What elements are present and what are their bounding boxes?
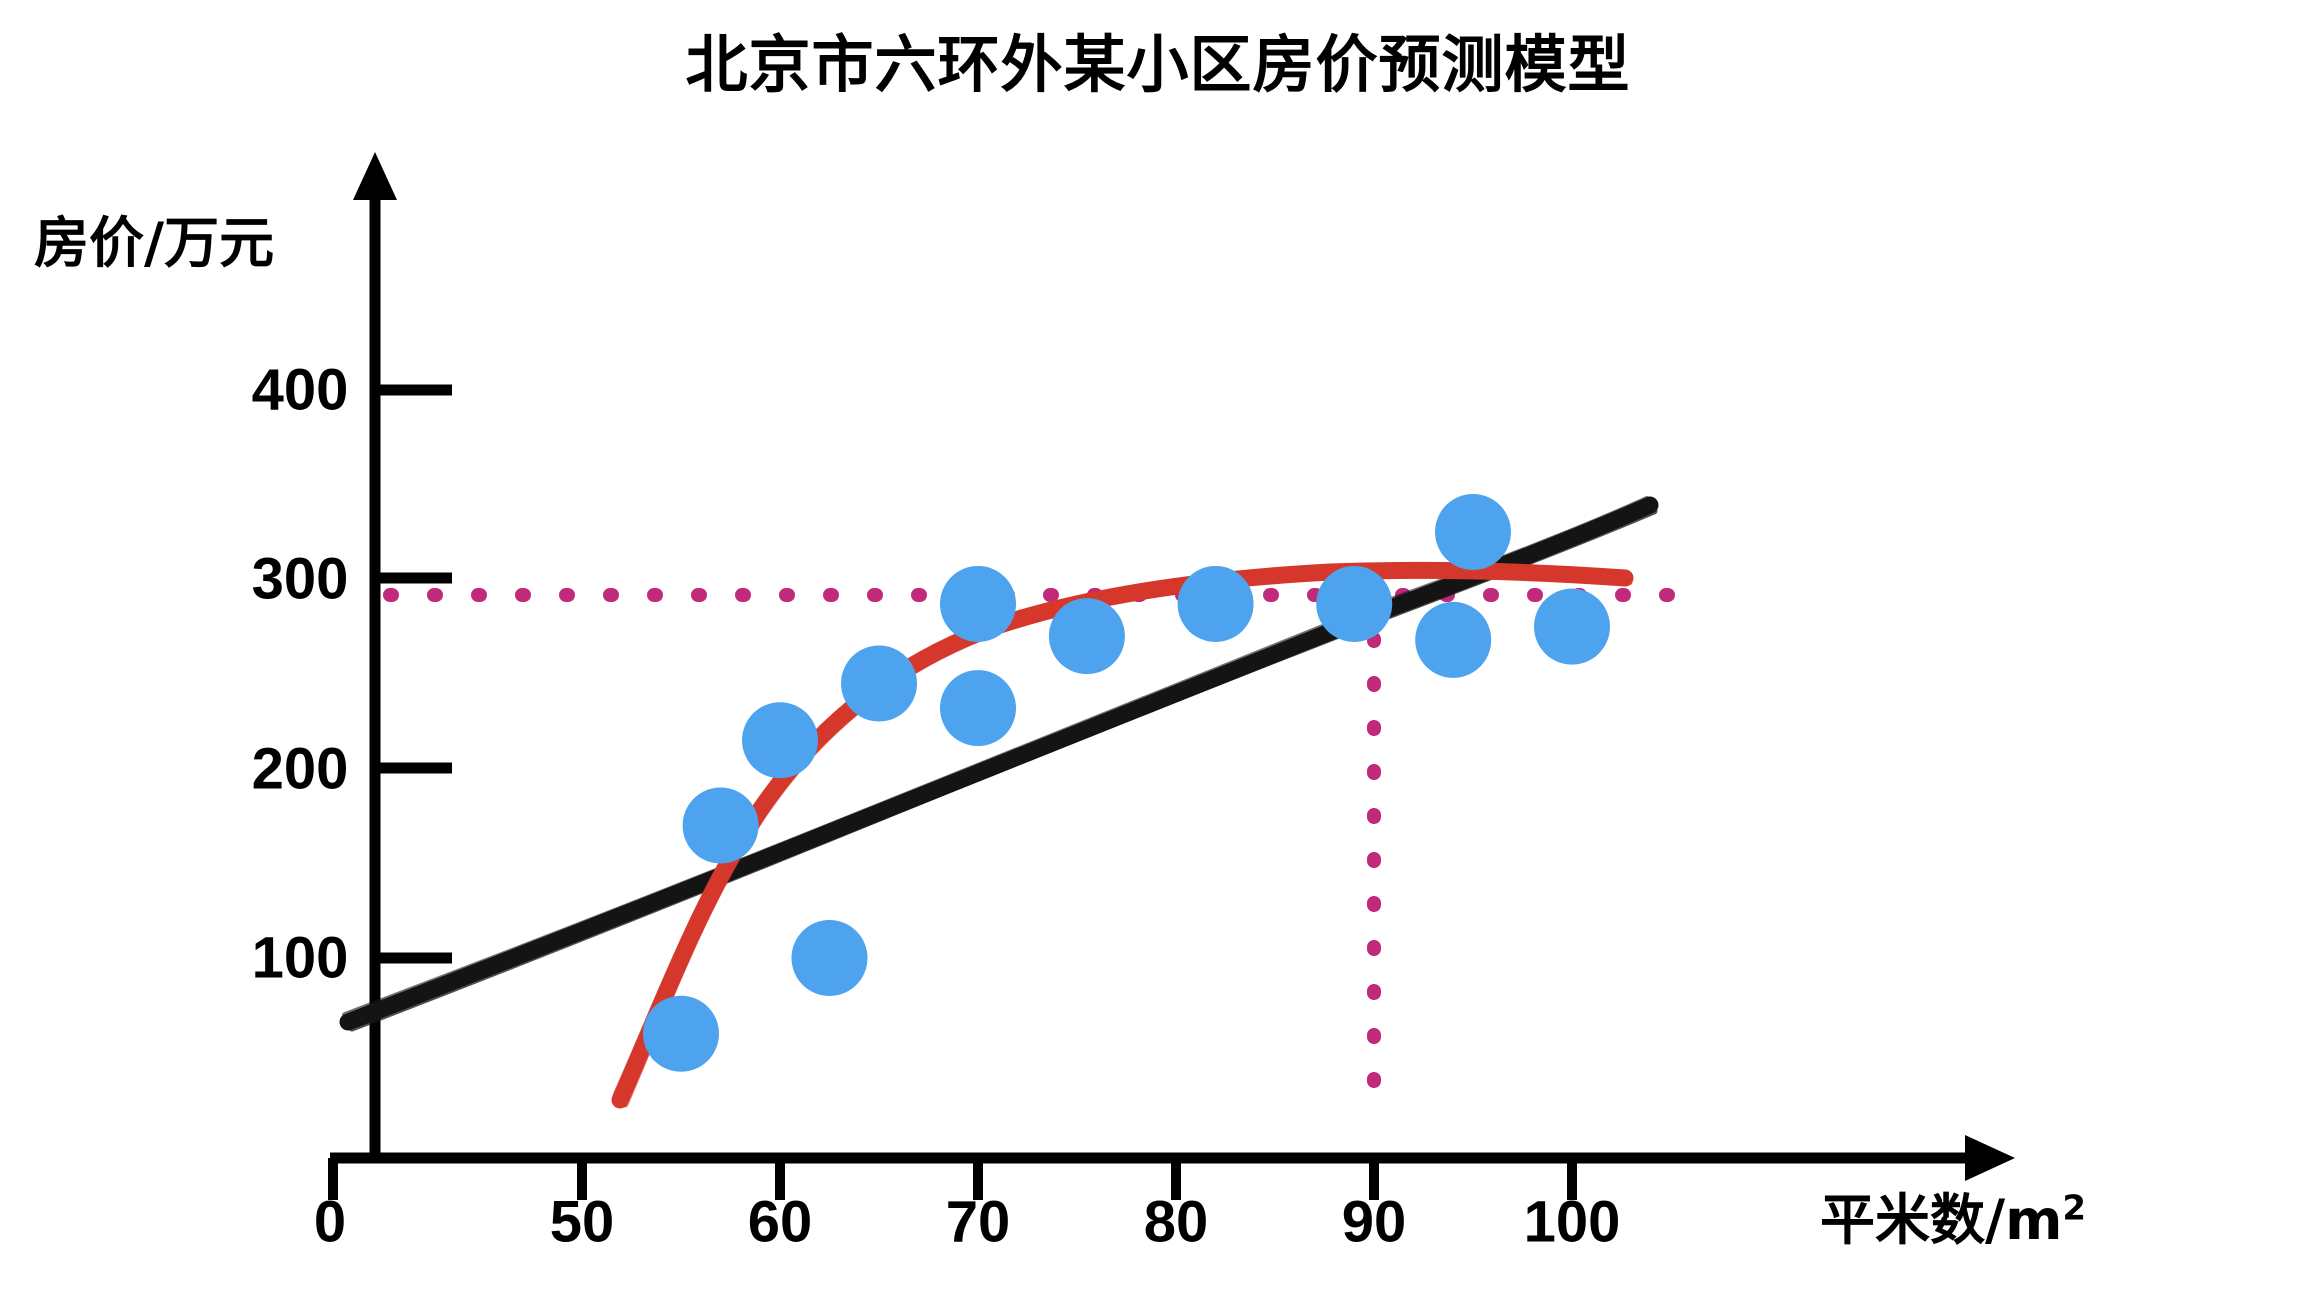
data-point: [792, 920, 868, 996]
y-axis-arrow-icon: [353, 152, 397, 200]
data-point: [1049, 598, 1125, 674]
plot-area: [0, 0, 2316, 1304]
y-tick-label-300: 300: [252, 546, 349, 613]
data-point: [841, 645, 917, 721]
data-point: [1415, 602, 1491, 678]
x-tick-label-60: 60: [748, 1189, 813, 1256]
y-tick-marks: [375, 390, 452, 958]
data-point: [1178, 566, 1254, 642]
x-tick-label-90: 90: [1342, 1189, 1407, 1256]
x-tick-label-50: 50: [550, 1189, 615, 1256]
data-point: [1534, 589, 1610, 665]
x-tick-label-70: 70: [946, 1189, 1011, 1256]
data-point: [742, 702, 818, 778]
origin-label: 0: [314, 1189, 346, 1256]
data-point: [643, 996, 719, 1072]
data-point: [683, 787, 759, 863]
data-point: [940, 566, 1016, 642]
y-tick-label-200: 200: [252, 735, 349, 802]
x-tick-label-80: 80: [1144, 1189, 1209, 1256]
data-point: [1316, 566, 1392, 642]
chart-root: 北京市六环外某小区房价预测模型 房价/万元 平米数/m2: [0, 0, 2316, 1304]
y-tick-label-400: 400: [252, 357, 349, 424]
data-point: [940, 670, 1016, 746]
x-tick-label-100: 100: [1524, 1189, 1621, 1256]
data-point: [1435, 494, 1511, 570]
x-axis-arrow-icon: [1965, 1135, 2015, 1181]
reference-lines-group: [390, 595, 1700, 1120]
axes-group: [330, 152, 2015, 1181]
y-tick-label-100: 100: [252, 925, 349, 992]
